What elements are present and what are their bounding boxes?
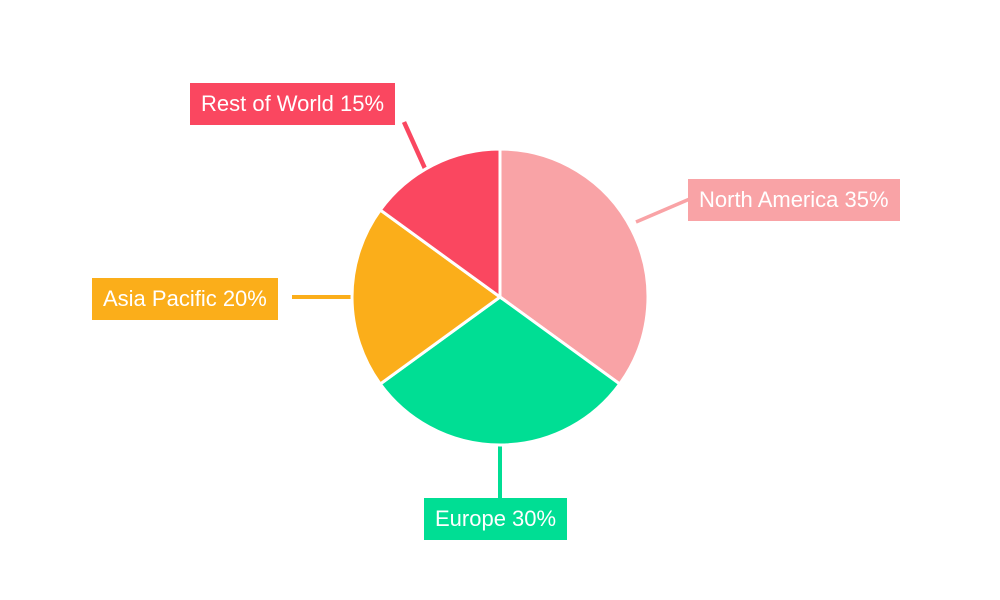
pie-label-north-america-text: North America 35% [699,179,889,221]
pie-label-europe[interactable]: Europe 30% [424,498,567,540]
pie-label-north-america[interactable]: North America 35% [688,179,900,221]
pie-label-asia-pacific-text: Asia Pacific 20% [103,278,267,320]
pie-label-europe-text: Europe 30% [435,498,556,540]
pie-label-rest-of-world-text: Rest of World 15% [201,83,384,125]
pie-chart: North America 35% Europe 30% Asia Pacifi… [0,0,1000,600]
pie-label-asia-pacific[interactable]: Asia Pacific 20% [92,278,278,320]
pie-slices [352,149,648,445]
leader-line-north-america [636,198,692,222]
pie-label-rest-of-world[interactable]: Rest of World 15% [190,83,395,125]
